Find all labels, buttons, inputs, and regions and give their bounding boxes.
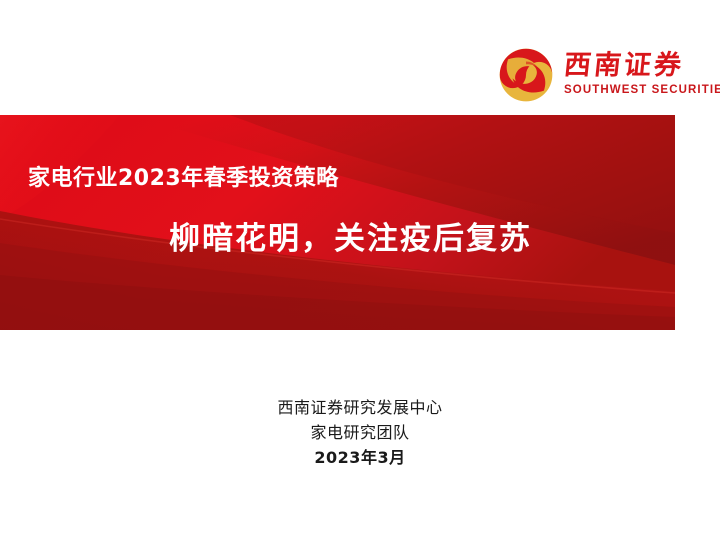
logo-english-name: SOUTHWEST SECURITIES [564, 84, 720, 98]
southwest-securities-emblem-icon [498, 47, 554, 103]
logo-wordmark: 西南证券 SOUTHWEST SECURITIES [564, 52, 720, 97]
footer-organization: 西南证券研究发展中心 [0, 395, 720, 420]
logo-chinese-name: 西南证券 [563, 52, 720, 80]
banner-text-group: 家电行业2023年春季投资策略 柳暗花明，关注疫后复苏 [0, 115, 675, 330]
presentation-cover-slide: 西南证券 SOUTHWEST SECURITIES [0, 0, 720, 540]
title-banner: 家电行业2023年春季投资策略 柳暗花明，关注疫后复苏 [0, 115, 675, 330]
report-main-title: 柳暗花明，关注疫后复苏 [0, 213, 675, 258]
footer-team: 家电研究团队 [0, 420, 720, 445]
company-logo: 西南证券 SOUTHWEST SECURITIES [498, 44, 694, 106]
footer-date: 2023年3月 [0, 445, 720, 470]
report-subtitle: 家电行业2023年春季投资策略 [28, 160, 339, 192]
footer-block: 西南证券研究发展中心 家电研究团队 2023年3月 [0, 395, 720, 470]
